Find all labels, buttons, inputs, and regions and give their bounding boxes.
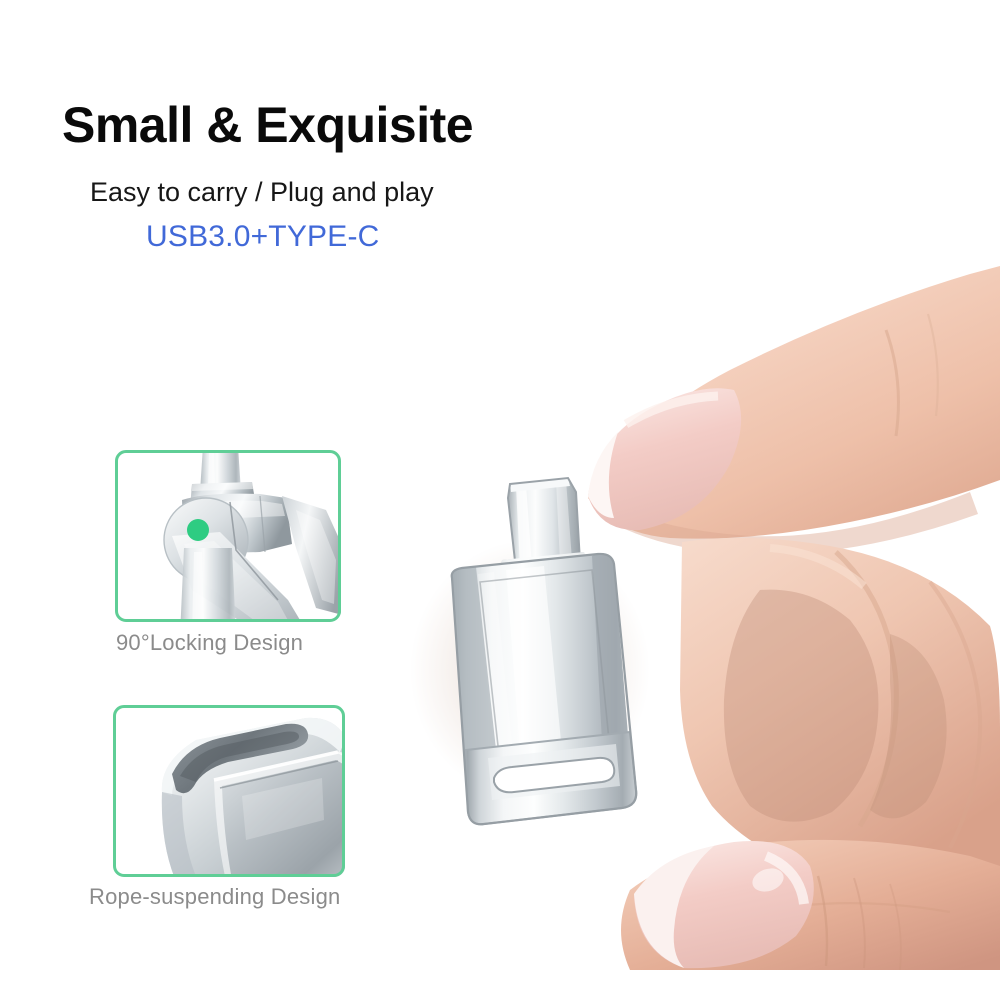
thumb — [621, 840, 1000, 970]
usb-flash-drive — [452, 478, 637, 824]
feature-frame-rope — [113, 705, 345, 877]
feature-caption-locking: 90°Locking Design — [116, 630, 303, 656]
page-title: Small & Exquisite — [62, 99, 473, 152]
hero-product-photo — [330, 230, 1000, 970]
page-subtitle: Easy to carry / Plug and play — [90, 176, 434, 208]
index-finger — [588, 266, 1000, 555]
curled-fingers — [680, 538, 1000, 885]
feature-frame-locking — [115, 450, 341, 622]
product-marketing-image: Small & Exquisite Easy to carry / Plug a… — [0, 0, 1000, 1000]
feature-caption-rope: Rope-suspending Design — [89, 884, 340, 910]
